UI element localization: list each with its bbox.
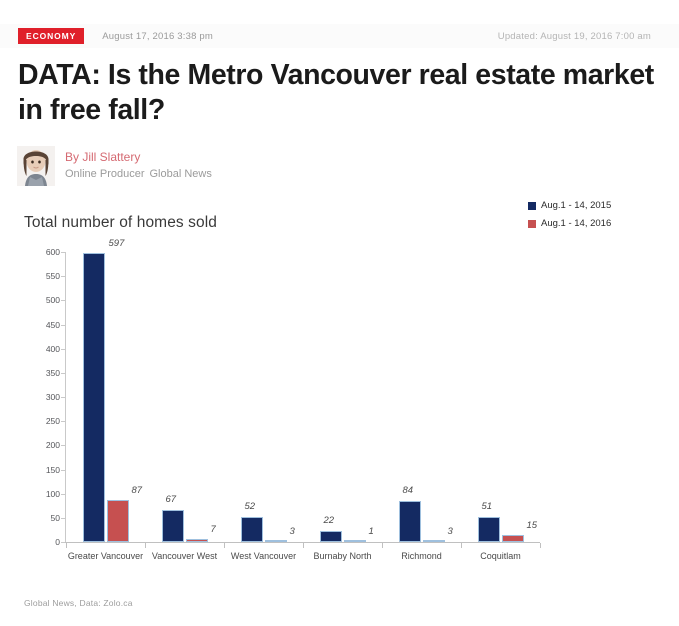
bar-value-label: 84 bbox=[403, 485, 414, 496]
bar-value-label: 67 bbox=[166, 494, 177, 505]
legend-label: Aug.1 - 14, 2015 bbox=[541, 200, 611, 211]
y-tick-label: 150 bbox=[46, 465, 60, 475]
legend-item[interactable]: Aug.1 - 14, 2016 bbox=[528, 218, 668, 229]
y-tick-label: 550 bbox=[46, 271, 60, 281]
x-tick-mark bbox=[303, 543, 304, 548]
bar-group: 677 bbox=[145, 252, 224, 542]
y-tick-label: 100 bbox=[46, 489, 60, 499]
y-tick-label: 450 bbox=[46, 320, 60, 330]
byline-author[interactable]: By Jill Slattery bbox=[65, 149, 212, 166]
bar-value-label: 3 bbox=[290, 526, 295, 537]
y-tick-label: 600 bbox=[46, 247, 60, 257]
bar[interactable] bbox=[107, 500, 129, 542]
bar[interactable] bbox=[423, 540, 445, 542]
page-title: DATA: Is the Metro Vancouver real estate… bbox=[18, 58, 664, 128]
bar-value-label: 597 bbox=[109, 238, 125, 249]
bar[interactable] bbox=[162, 510, 184, 542]
bar[interactable] bbox=[320, 531, 342, 542]
x-tick-mark bbox=[224, 543, 225, 548]
bars-area: 597876775232218435115 bbox=[66, 252, 540, 542]
bar[interactable] bbox=[241, 517, 263, 542]
byline-outlet: Global News bbox=[150, 168, 212, 180]
x-tick-mark bbox=[461, 543, 462, 548]
bar[interactable] bbox=[399, 501, 421, 542]
y-tick-label: 500 bbox=[46, 295, 60, 305]
source-note: Global News, Data: Zolo.ca bbox=[24, 598, 133, 608]
byline-role: Online ProducerGlobal News bbox=[65, 167, 212, 183]
y-tick-label: 300 bbox=[46, 392, 60, 402]
bar[interactable] bbox=[186, 539, 208, 542]
y-tick-label: 50 bbox=[51, 513, 60, 523]
bar-value-label: 7 bbox=[211, 524, 216, 535]
chart-container: Total number of homes sold 0501001502002… bbox=[0, 200, 679, 626]
legend-swatch bbox=[528, 202, 536, 210]
y-axis: 050100150200250300350400450500550600 bbox=[20, 252, 60, 542]
bar-group: 5115 bbox=[461, 252, 540, 542]
bar-value-label: 3 bbox=[448, 526, 453, 537]
bar-group: 221 bbox=[303, 252, 382, 542]
article-meta-bar: ECONOMY August 17, 2016 3:38 pm Updated:… bbox=[0, 24, 679, 48]
y-tick-label: 400 bbox=[46, 344, 60, 354]
bar-value-label: 51 bbox=[482, 501, 493, 512]
updated-date: Updated: August 19, 2016 7:00 am bbox=[498, 31, 651, 42]
bar[interactable] bbox=[83, 253, 105, 542]
x-tick-mark bbox=[145, 543, 146, 548]
byline: By Jill Slattery Online ProducerGlobal N… bbox=[17, 146, 212, 186]
chart-title: Total number of homes sold bbox=[24, 214, 217, 232]
avatar bbox=[17, 146, 55, 186]
plot-area: 050100150200250300350400450500550600 597… bbox=[20, 252, 540, 552]
bar-value-label: 52 bbox=[245, 501, 256, 512]
bar[interactable] bbox=[265, 540, 287, 542]
bar-value-label: 1 bbox=[369, 526, 374, 537]
y-tick-label: 250 bbox=[46, 416, 60, 426]
x-tick-label: Vancouver West bbox=[145, 550, 224, 562]
bar-group: 523 bbox=[224, 252, 303, 542]
legend-label: Aug.1 - 14, 2016 bbox=[541, 218, 611, 229]
x-tick-mark bbox=[540, 543, 541, 548]
bar-group: 59787 bbox=[66, 252, 145, 542]
legend-swatch bbox=[528, 220, 536, 228]
bar-group: 843 bbox=[382, 252, 461, 542]
x-tick-mark bbox=[66, 543, 67, 548]
byline-text: By Jill Slattery Online ProducerGlobal N… bbox=[65, 149, 212, 182]
publish-date: August 17, 2016 3:38 pm bbox=[102, 31, 213, 42]
x-tick-label: Greater Vancouver bbox=[66, 550, 145, 562]
x-tick-label: West Vancouver bbox=[224, 550, 303, 562]
byline-role-title: Online Producer bbox=[65, 168, 145, 180]
bar-value-label: 15 bbox=[527, 520, 538, 531]
bar-value-label: 22 bbox=[324, 515, 335, 526]
category-badge[interactable]: ECONOMY bbox=[18, 28, 84, 45]
x-tick-label: Richmond bbox=[382, 550, 461, 562]
y-tick-label: 0 bbox=[55, 537, 60, 547]
x-axis-labels: Greater VancouverVancouver WestWest Vanc… bbox=[66, 550, 540, 592]
chart-legend: Aug.1 - 14, 2015Aug.1 - 14, 2016 bbox=[528, 200, 668, 236]
y-tick-label: 350 bbox=[46, 368, 60, 378]
bar[interactable] bbox=[344, 540, 366, 542]
x-tick-label: Burnaby North bbox=[303, 550, 382, 562]
legend-item[interactable]: Aug.1 - 14, 2015 bbox=[528, 200, 668, 211]
y-tick-label: 200 bbox=[46, 440, 60, 450]
x-tick-mark bbox=[382, 543, 383, 548]
bar[interactable] bbox=[502, 535, 524, 542]
bar-value-label: 87 bbox=[132, 485, 143, 496]
x-tick-label: Coquitlam bbox=[461, 550, 540, 562]
bar[interactable] bbox=[478, 517, 500, 542]
